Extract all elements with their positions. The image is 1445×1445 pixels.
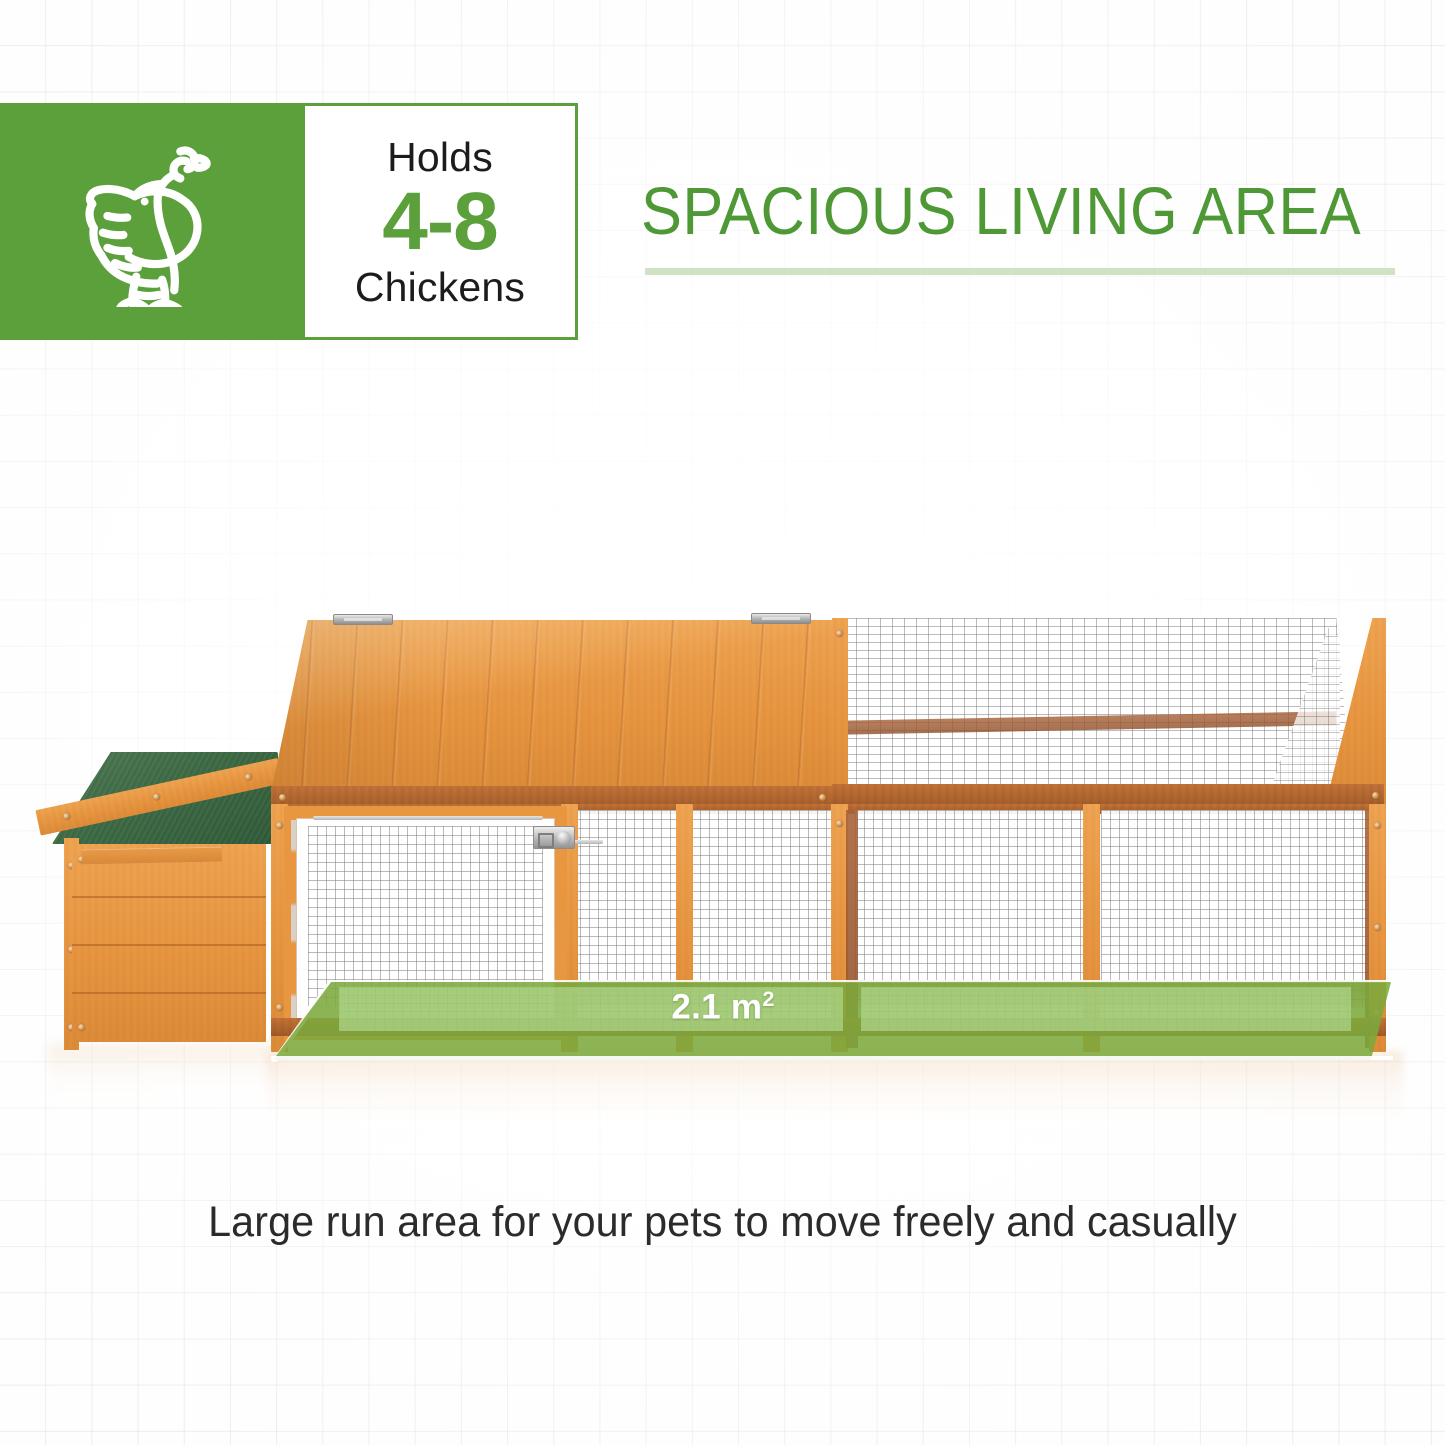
badge-text-panel: Holds 4-8 Chickens bbox=[305, 103, 578, 340]
plank-seam bbox=[72, 992, 266, 994]
badge-line-holds: Holds bbox=[387, 137, 493, 179]
roof-hinge-left[interactable] bbox=[333, 614, 393, 625]
nesting-box-panel bbox=[72, 844, 266, 1042]
mesh-panel bbox=[1101, 810, 1371, 1006]
nesting-box-lid-lip bbox=[82, 847, 222, 865]
floor-area-highlight bbox=[273, 982, 1391, 1060]
plank-seam bbox=[72, 944, 266, 946]
run-roof bbox=[832, 618, 1352, 794]
badge-line-chickens: Chickens bbox=[355, 267, 525, 309]
screw bbox=[63, 812, 71, 820]
floor-panel bbox=[339, 987, 843, 1031]
title-underline-rule bbox=[645, 268, 1395, 275]
badge-capacity-count: 4-8 bbox=[382, 181, 498, 263]
run-roof-left-post bbox=[832, 618, 848, 810]
capacity-badge: Holds 4-8 Chickens bbox=[0, 103, 578, 340]
screw bbox=[819, 794, 826, 801]
screw bbox=[836, 630, 843, 637]
floor-front-edge bbox=[271, 1056, 1393, 1060]
coop-roof bbox=[271, 620, 833, 792]
roof-hinge-right[interactable] bbox=[751, 613, 811, 624]
page-title: SPACIOUS LIVING AREA bbox=[641, 178, 1361, 245]
screw bbox=[152, 793, 160, 801]
product-image: 2.1 m2 bbox=[28, 604, 1418, 1084]
caption-text: Large run area for your pets to move fre… bbox=[29, 1198, 1416, 1247]
screw bbox=[276, 822, 283, 829]
screw bbox=[836, 820, 843, 827]
door-top-rod bbox=[313, 816, 543, 820]
screw bbox=[78, 1024, 85, 1031]
badge-icon-panel bbox=[0, 103, 305, 340]
door-hinge[interactable] bbox=[291, 820, 296, 1026]
mesh-panel bbox=[691, 810, 831, 1006]
screw bbox=[1374, 924, 1381, 931]
screw bbox=[279, 794, 286, 801]
screw bbox=[1372, 792, 1379, 799]
run-roof-wire-mesh bbox=[832, 618, 1352, 794]
screw bbox=[1374, 822, 1381, 829]
floor-panel bbox=[861, 987, 1351, 1031]
screw bbox=[276, 1004, 283, 1011]
screw bbox=[244, 773, 252, 781]
door-latch[interactable] bbox=[533, 826, 575, 849]
plank-seam bbox=[72, 896, 266, 898]
nesting-box bbox=[38, 752, 283, 1057]
chicken-icon bbox=[77, 137, 229, 307]
roof-highlight bbox=[271, 620, 833, 792]
mesh-panel bbox=[855, 810, 1085, 1006]
